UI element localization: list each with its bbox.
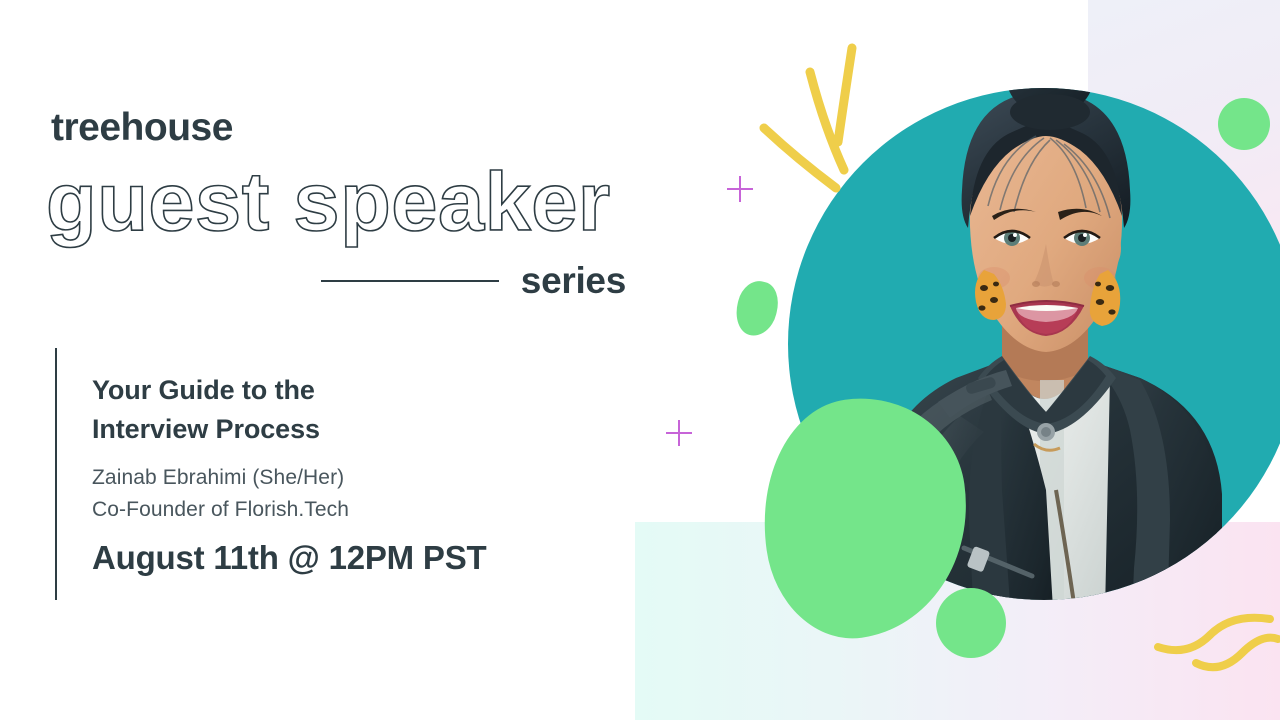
talk-title-line-2: Interview Process [92, 410, 320, 449]
plus-mark-lower [666, 420, 692, 446]
vertical-accent-rule [55, 348, 57, 600]
talk-title-line-1: Your Guide to the [92, 371, 320, 410]
plus-mark-upper [727, 176, 753, 202]
talk-title: Your Guide to the Interview Process [92, 371, 320, 449]
headline-outline: guest speaker [46, 160, 611, 243]
text-column: treehouse guest speaker series Your Guid… [0, 0, 660, 720]
promo-slide: treehouse guest speaker series Your Guid… [0, 0, 1280, 720]
series-row: series [46, 258, 626, 304]
speaker-name: Zainab Ebrahimi (She/Her) [92, 462, 349, 494]
event-datetime: August 11th @ 12PM PST [92, 538, 487, 578]
green-circle-bottom [936, 588, 1006, 658]
speaker-role: Co-Founder of Florish.Tech [92, 494, 349, 526]
green-blob-small [731, 277, 783, 340]
series-divider-rule [321, 280, 499, 282]
series-label: series [521, 262, 626, 301]
brand-wordmark: treehouse [51, 108, 233, 147]
speaker-details: Zainab Ebrahimi (She/Her) Co-Founder of … [92, 462, 349, 526]
